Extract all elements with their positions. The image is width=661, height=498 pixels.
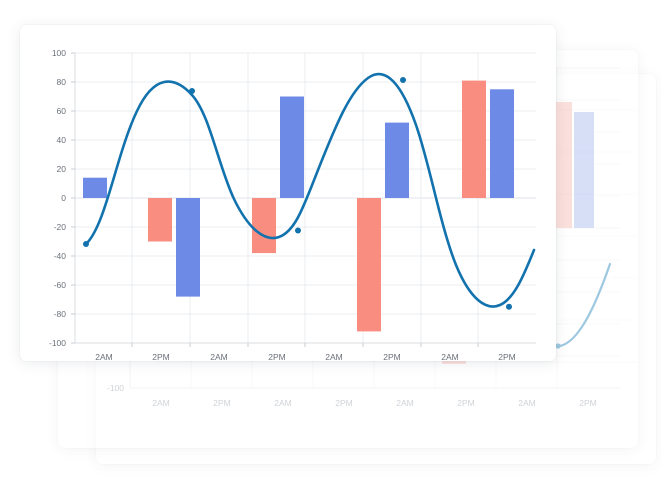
y-tick-label: 40 (57, 135, 67, 145)
main-chart-svg: 100 80 60 40 20 0 -20 -40 -60 -80 -100 2… (20, 25, 556, 361)
middle-x-tick-labels: 2AM 2PM 2AM 2PM 2AM 2PM 2AM 2PM (152, 398, 596, 408)
y-tick-label: -100 (49, 338, 66, 348)
bar-blue-2[interactable] (176, 198, 200, 297)
bar-blue-4[interactable] (385, 123, 409, 198)
bar-red-2[interactable] (148, 198, 172, 242)
svg-text:2PM: 2PM (335, 398, 352, 408)
bar-red-5[interactable] (462, 81, 486, 198)
bar-red-4[interactable] (357, 198, 381, 331)
bar-blue-1[interactable] (83, 178, 107, 198)
line-marker-1[interactable] (83, 241, 89, 247)
x-tick-label: 2PM (383, 352, 400, 361)
svg-text:-100: -100 (107, 383, 124, 393)
main-y-ticks (71, 53, 75, 343)
main-chart-plot: 100 80 60 40 20 0 -20 -40 -60 -80 -100 2… (20, 25, 556, 361)
main-x-ticks (132, 343, 478, 347)
main-y-tick-labels: 100 80 60 40 20 0 -20 -40 -60 -80 -100 (49, 48, 66, 348)
line-marker-3[interactable] (295, 228, 301, 234)
line-marker-4[interactable] (400, 77, 406, 83)
bar-blue-5[interactable] (490, 89, 514, 198)
x-tick-label: 2AM (325, 352, 342, 361)
svg-text:2AM: 2AM (518, 398, 535, 408)
x-tick-label: 2AM (210, 352, 227, 361)
y-tick-label: -80 (54, 309, 67, 319)
svg-text:2AM: 2AM (396, 398, 413, 408)
x-tick-label: 2AM (441, 352, 458, 361)
y-tick-label: 80 (57, 77, 67, 87)
bar-group-2 (148, 198, 200, 297)
x-tick-label: 2PM (152, 352, 169, 361)
svg-text:2AM: 2AM (152, 398, 169, 408)
svg-text:2PM: 2PM (457, 398, 474, 408)
y-tick-label: 0 (61, 193, 66, 203)
line-marker-5[interactable] (506, 304, 512, 310)
x-tick-label: 2PM (498, 352, 515, 361)
y-tick-label: -40 (54, 251, 67, 261)
bar-group-5 (462, 81, 514, 198)
y-tick-label: 60 (57, 106, 67, 116)
chart-stack: 20 10 0 -20 -40 -60 -80 -100 2AM 2PM 2AM… (0, 0, 661, 498)
svg-text:2PM: 2PM (579, 398, 596, 408)
y-tick-label: 20 (57, 164, 67, 174)
bar-blue-3[interactable] (280, 97, 304, 199)
line-marker-2[interactable] (189, 88, 195, 94)
svg-text:2AM: 2AM (274, 398, 291, 408)
middle-line-marker (555, 343, 560, 348)
foreground-chart-card[interactable]: 100 80 60 40 20 0 -20 -40 -60 -80 -100 2… (20, 25, 556, 361)
x-tick-label: 2AM (95, 352, 112, 361)
main-x-tick-labels: 2AM 2PM 2AM 2PM 2AM 2PM 2AM 2PM (95, 352, 515, 361)
bar-red-3[interactable] (252, 198, 276, 253)
y-tick-label: 100 (52, 48, 66, 58)
svg-text:2PM: 2PM (213, 398, 230, 408)
x-tick-label: 2PM (268, 352, 285, 361)
bar-group-1 (83, 178, 107, 198)
y-tick-label: -60 (54, 280, 67, 290)
y-tick-label: -20 (54, 222, 67, 232)
